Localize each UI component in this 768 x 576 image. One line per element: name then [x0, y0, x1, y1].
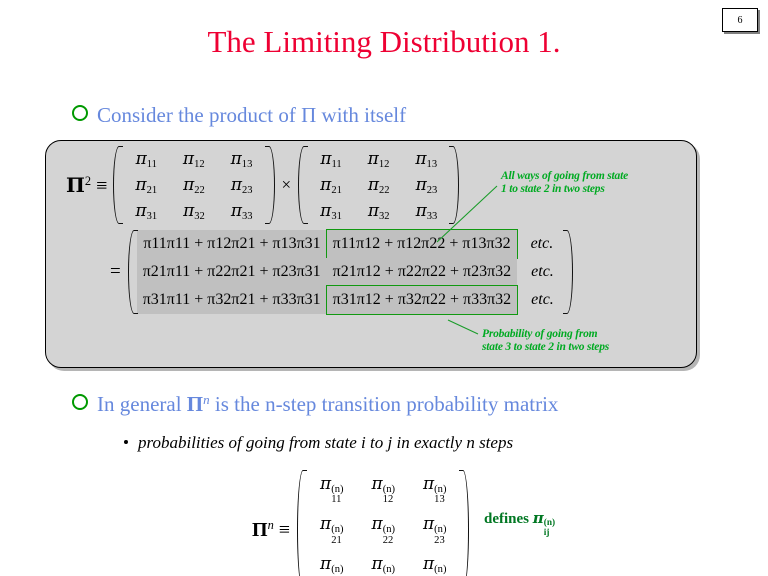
- annotation-1-line-2: 1 to state 2 in two steps: [501, 183, 628, 196]
- ring-bullet-icon: [72, 394, 88, 410]
- defines-label: defines: [484, 511, 529, 527]
- annotation-2-line-2: state 3 to state 2 in two steps: [482, 341, 609, 354]
- pi-n-cell: π(n)11: [306, 470, 357, 510]
- defines-annotation: defines π(n)ij: [484, 509, 555, 538]
- pi-n-cell: π(n)21: [306, 510, 357, 550]
- equation-3-lhs: Πn ≡: [252, 519, 290, 542]
- pi-capital-symbol: Π: [252, 519, 268, 541]
- annotation-probability: Probability of going from state 3 to sta…: [482, 328, 609, 354]
- pi-capital-symbol: Π: [187, 392, 203, 416]
- annotation-1-line-1: All ways of going from state: [501, 170, 628, 183]
- pi-n-cell: π(n)22: [358, 510, 409, 550]
- pi-n-cell: π(n)13: [409, 470, 460, 510]
- bullet-item-2-label: In general Πn is the n-step transition p…: [97, 392, 558, 416]
- bullet-2-text-post: is the n-step transition probability mat…: [210, 392, 559, 416]
- defines-sub-sup: (n)ij: [544, 519, 555, 538]
- dot-bullet-icon: [124, 440, 128, 444]
- equation-3-exponent: n: [268, 518, 274, 532]
- sub-bullet-item: probabilities of going from state i to j…: [124, 433, 513, 453]
- annotation-2-line-1: Probability of going from: [482, 328, 609, 341]
- matrix-pi-n: π(n)11 π(n)12 π(n)13 π(n)21 π(n)22 π(n)2…: [297, 470, 469, 576]
- bullet-item-2: In general Πn is the n-step transition p…: [72, 392, 558, 416]
- pi-lowercase-symbol: π: [533, 509, 544, 527]
- annotation-all-ways: All ways of going from state 1 to state …: [501, 170, 628, 196]
- bullet-2-text-pre: In general: [97, 392, 187, 416]
- pi-n-cell: π(n)31: [306, 550, 357, 576]
- pi-n-cell: π(n)12: [358, 470, 409, 510]
- pi-n-cell: π(n)32: [358, 550, 409, 576]
- pi-n-cell: π(n)23: [409, 510, 460, 550]
- equation-3-relation: ≡: [279, 519, 290, 541]
- equation-pi-n: Πn ≡ π(n)11 π(n)12 π(n)13 π(n)21 π(n)22 …: [252, 470, 469, 576]
- sub-bullet-label: probabilities of going from state i to j…: [138, 433, 513, 453]
- pi-n-cell: π(n)33: [409, 550, 460, 576]
